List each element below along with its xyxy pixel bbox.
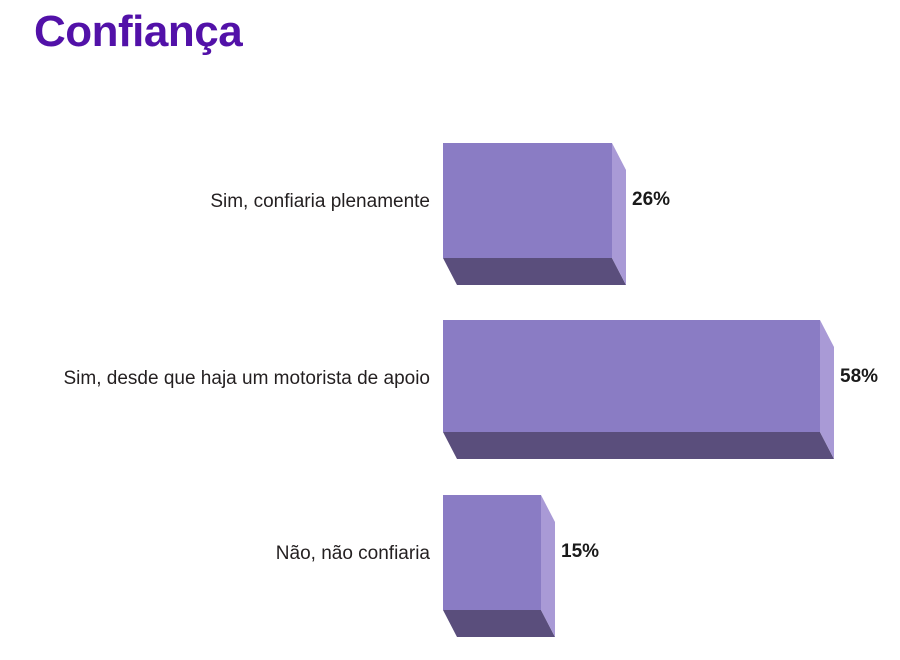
- bar-value-label: 26%: [632, 190, 670, 209]
- bar-3d[interactable]: [443, 143, 626, 285]
- bar-category-label: Não, não confiaria: [276, 544, 430, 563]
- bar-front-face: [443, 320, 820, 432]
- bar-category-label: Sim, confiaria plenamente: [210, 192, 430, 211]
- bar-3d[interactable]: [443, 320, 834, 459]
- bar-value-label: 58%: [840, 367, 878, 386]
- bar-bottom-face: [443, 432, 834, 459]
- bar-3d[interactable]: [443, 495, 555, 637]
- bar-bottom-face: [443, 258, 626, 285]
- bar-front-face: [443, 495, 541, 610]
- bar-value-label: 15%: [561, 542, 599, 561]
- bar-bottom-face: [443, 610, 555, 637]
- slide-canvas: Confiança Sim, confiaria plenamente26%Si…: [0, 0, 900, 660]
- bar-chart-plot-area: Sim, confiaria plenamente26%Sim, desde q…: [0, 0, 900, 660]
- bar-category-label: Sim, desde que haja um motorista de apoi…: [64, 369, 431, 388]
- bar-front-face: [443, 143, 612, 258]
